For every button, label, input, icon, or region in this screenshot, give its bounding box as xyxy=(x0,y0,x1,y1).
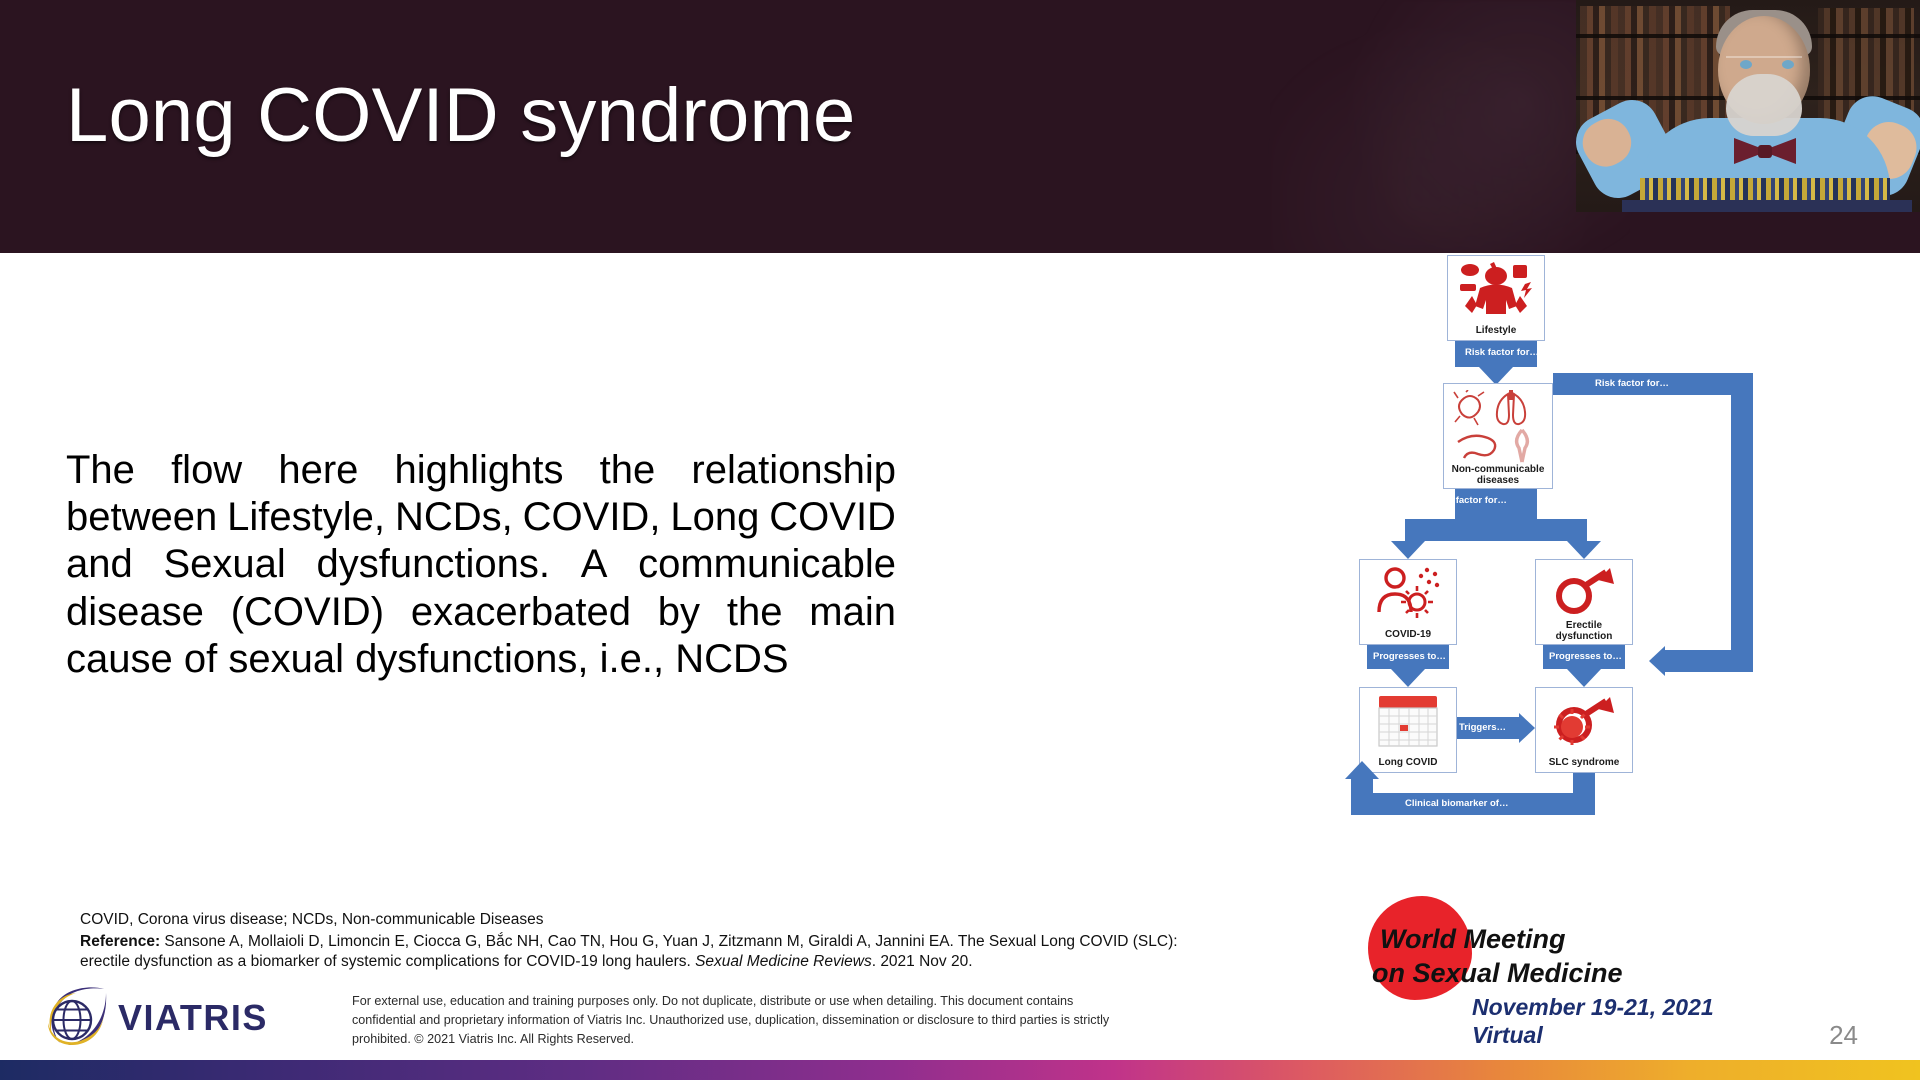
body-word: Sexual xyxy=(163,541,285,588)
diagram-arrow-label-progresses-1: Progresses to… xyxy=(1373,651,1446,662)
diagram-node-label: SLC syndrome xyxy=(1536,757,1632,768)
desk-base xyxy=(1622,200,1912,212)
presenter-beard xyxy=(1726,74,1802,136)
diagram-arrow-label-risk-2: Risk factor for… xyxy=(1433,495,1507,506)
conference-logo-line1: World Meeting xyxy=(1380,924,1566,955)
pathway-flow-diagram: Lifestyle Risk factor for… Non-communica… xyxy=(1295,255,1625,905)
presenter-eye xyxy=(1782,60,1794,69)
body-line: andSexualdysfunctions.Acommunicable xyxy=(66,541,896,588)
body-word: exacerbated xyxy=(411,589,631,636)
reference-citation: Reference: Sansone A, Mollaioli D, Limon… xyxy=(80,932,1195,973)
diagram-node-slc-syndrome: SLC syndrome xyxy=(1535,687,1633,773)
body-word: The xyxy=(66,447,135,494)
male-symbol-icon xyxy=(1548,566,1620,616)
diagram-arrow-label-biomarker: Clinical biomarker of… xyxy=(1405,798,1508,809)
presenter-left-hand xyxy=(1576,111,1639,174)
presenter-eye xyxy=(1740,60,1752,69)
ed-label-line1: Erectile xyxy=(1566,620,1602,631)
body-word: dysfunctions. xyxy=(317,541,550,588)
body-word: COVID xyxy=(769,494,896,541)
ed-label-line2: dysfunction xyxy=(1556,631,1613,642)
diagram-node-ncd: Non-communicable diseases xyxy=(1443,383,1553,489)
bottom-gradient-bar xyxy=(0,1060,1920,1080)
diagram-long-path-vertical xyxy=(1731,373,1753,661)
reference-journal: Sexual Medicine Reviews xyxy=(695,953,872,970)
conference-format: Virtual xyxy=(1472,1022,1543,1049)
lifestyle-icon xyxy=(1457,262,1535,320)
diagram-arrow-label-progresses-2: Progresses to… xyxy=(1549,651,1622,662)
diagram-node-label: Erectile dysfunction xyxy=(1536,620,1632,642)
reference-date: . 2021 Nov 20. xyxy=(872,953,973,970)
conference-dates: November 19-21, 2021 xyxy=(1472,994,1714,1021)
conference-logo: World Meeting on Sexual Medicine Novembe… xyxy=(1368,902,1788,1048)
diagram-arrow-to-ed xyxy=(1567,541,1601,559)
viatris-logo: VIATRIS xyxy=(46,985,286,1047)
body-word: flow xyxy=(171,447,242,494)
ncd-label-line1: Non-communicable xyxy=(1452,464,1545,475)
conference-logo-line2: on Sexual Medicine xyxy=(1372,958,1623,989)
diagram-arrow-label-risk-3: Risk factor for… xyxy=(1595,378,1669,389)
diagram-arrow-to-covid xyxy=(1391,541,1425,559)
diagram-node-erectile-dysfunction: Erectile dysfunction xyxy=(1535,559,1633,645)
body-word: COVID, xyxy=(523,494,661,541)
page-number: 24 xyxy=(1829,1020,1858,1051)
ncd-label-line2: diseases xyxy=(1477,475,1519,486)
diagram-arrow-label-risk-1: Risk factor for… xyxy=(1465,347,1539,358)
abbreviations-note: COVID, Corona virus disease; NCDs, Non-c… xyxy=(80,911,543,929)
page-title: Long COVID syndrome xyxy=(66,72,855,159)
diagram-node-label: COVID-19 xyxy=(1360,629,1456,640)
legal-disclaimer: For external use, education and training… xyxy=(352,992,1132,1049)
body-word: (COVID) xyxy=(231,589,384,636)
body-word: and xyxy=(66,541,133,588)
body-word: relationship xyxy=(691,447,896,494)
body-word: here xyxy=(278,447,358,494)
body-word: Lifestyle, xyxy=(227,494,385,541)
diagram-biomarker-vertical-left xyxy=(1351,779,1373,799)
body-line: Theflowherehighlightstherelationship xyxy=(66,447,896,494)
body-line: disease(COVID)exacerbatedbythemain xyxy=(66,589,896,636)
body-word: communicable xyxy=(638,541,896,588)
diagram-arrow-label-triggers: Triggers… xyxy=(1459,722,1506,733)
organs-icon xyxy=(1452,390,1544,464)
viatris-globe-icon xyxy=(46,985,108,1047)
body-word: between xyxy=(66,494,217,541)
male-symbol-virus-icon xyxy=(1548,694,1620,746)
body-line: betweenLifestyle,NCDs,COVID,LongCOVID xyxy=(66,494,896,541)
presenter-video-thumbnail[interactable] xyxy=(1576,0,1920,212)
diagram-node-lifestyle: Lifestyle xyxy=(1447,255,1545,341)
presentation-slide: Long COVID syndrome Theflowherehighlight… xyxy=(0,0,1920,1080)
diagram-long-path-horizontal-bottom xyxy=(1665,650,1753,672)
body-word: Long xyxy=(670,494,759,541)
body-word: NCDs, xyxy=(395,494,513,541)
body-word: the xyxy=(727,589,783,636)
body-line-last: cause of sexual dysfunctions, i.e., NCDS xyxy=(66,636,896,683)
viatris-wordmark: VIATRIS xyxy=(118,997,268,1039)
diagram-arrow-crossbar xyxy=(1405,519,1587,541)
diagram-biomarker-arrowhead xyxy=(1345,761,1379,779)
reference-label: Reference: xyxy=(80,933,160,950)
bowtie-knot xyxy=(1758,145,1772,158)
diagram-node-covid19: COVID-19 xyxy=(1359,559,1457,645)
body-word: by xyxy=(658,589,700,636)
infected-person-icon xyxy=(1373,566,1443,620)
body-word: highlights xyxy=(395,447,564,494)
body-word: disease xyxy=(66,589,204,636)
body-word: the xyxy=(600,447,656,494)
reference-authors: Sansone A, Mollaioli D, Limoncin E, Cioc… xyxy=(80,933,1178,970)
diagram-node-label: Non-communicable diseases xyxy=(1444,464,1552,486)
calendar-icon xyxy=(1375,694,1441,750)
body-word: A xyxy=(581,541,608,588)
body-word: main xyxy=(809,589,896,636)
slide-body-text: Theflowherehighlightstherelationship bet… xyxy=(66,447,896,683)
diagram-node-label: Lifestyle xyxy=(1448,325,1544,336)
